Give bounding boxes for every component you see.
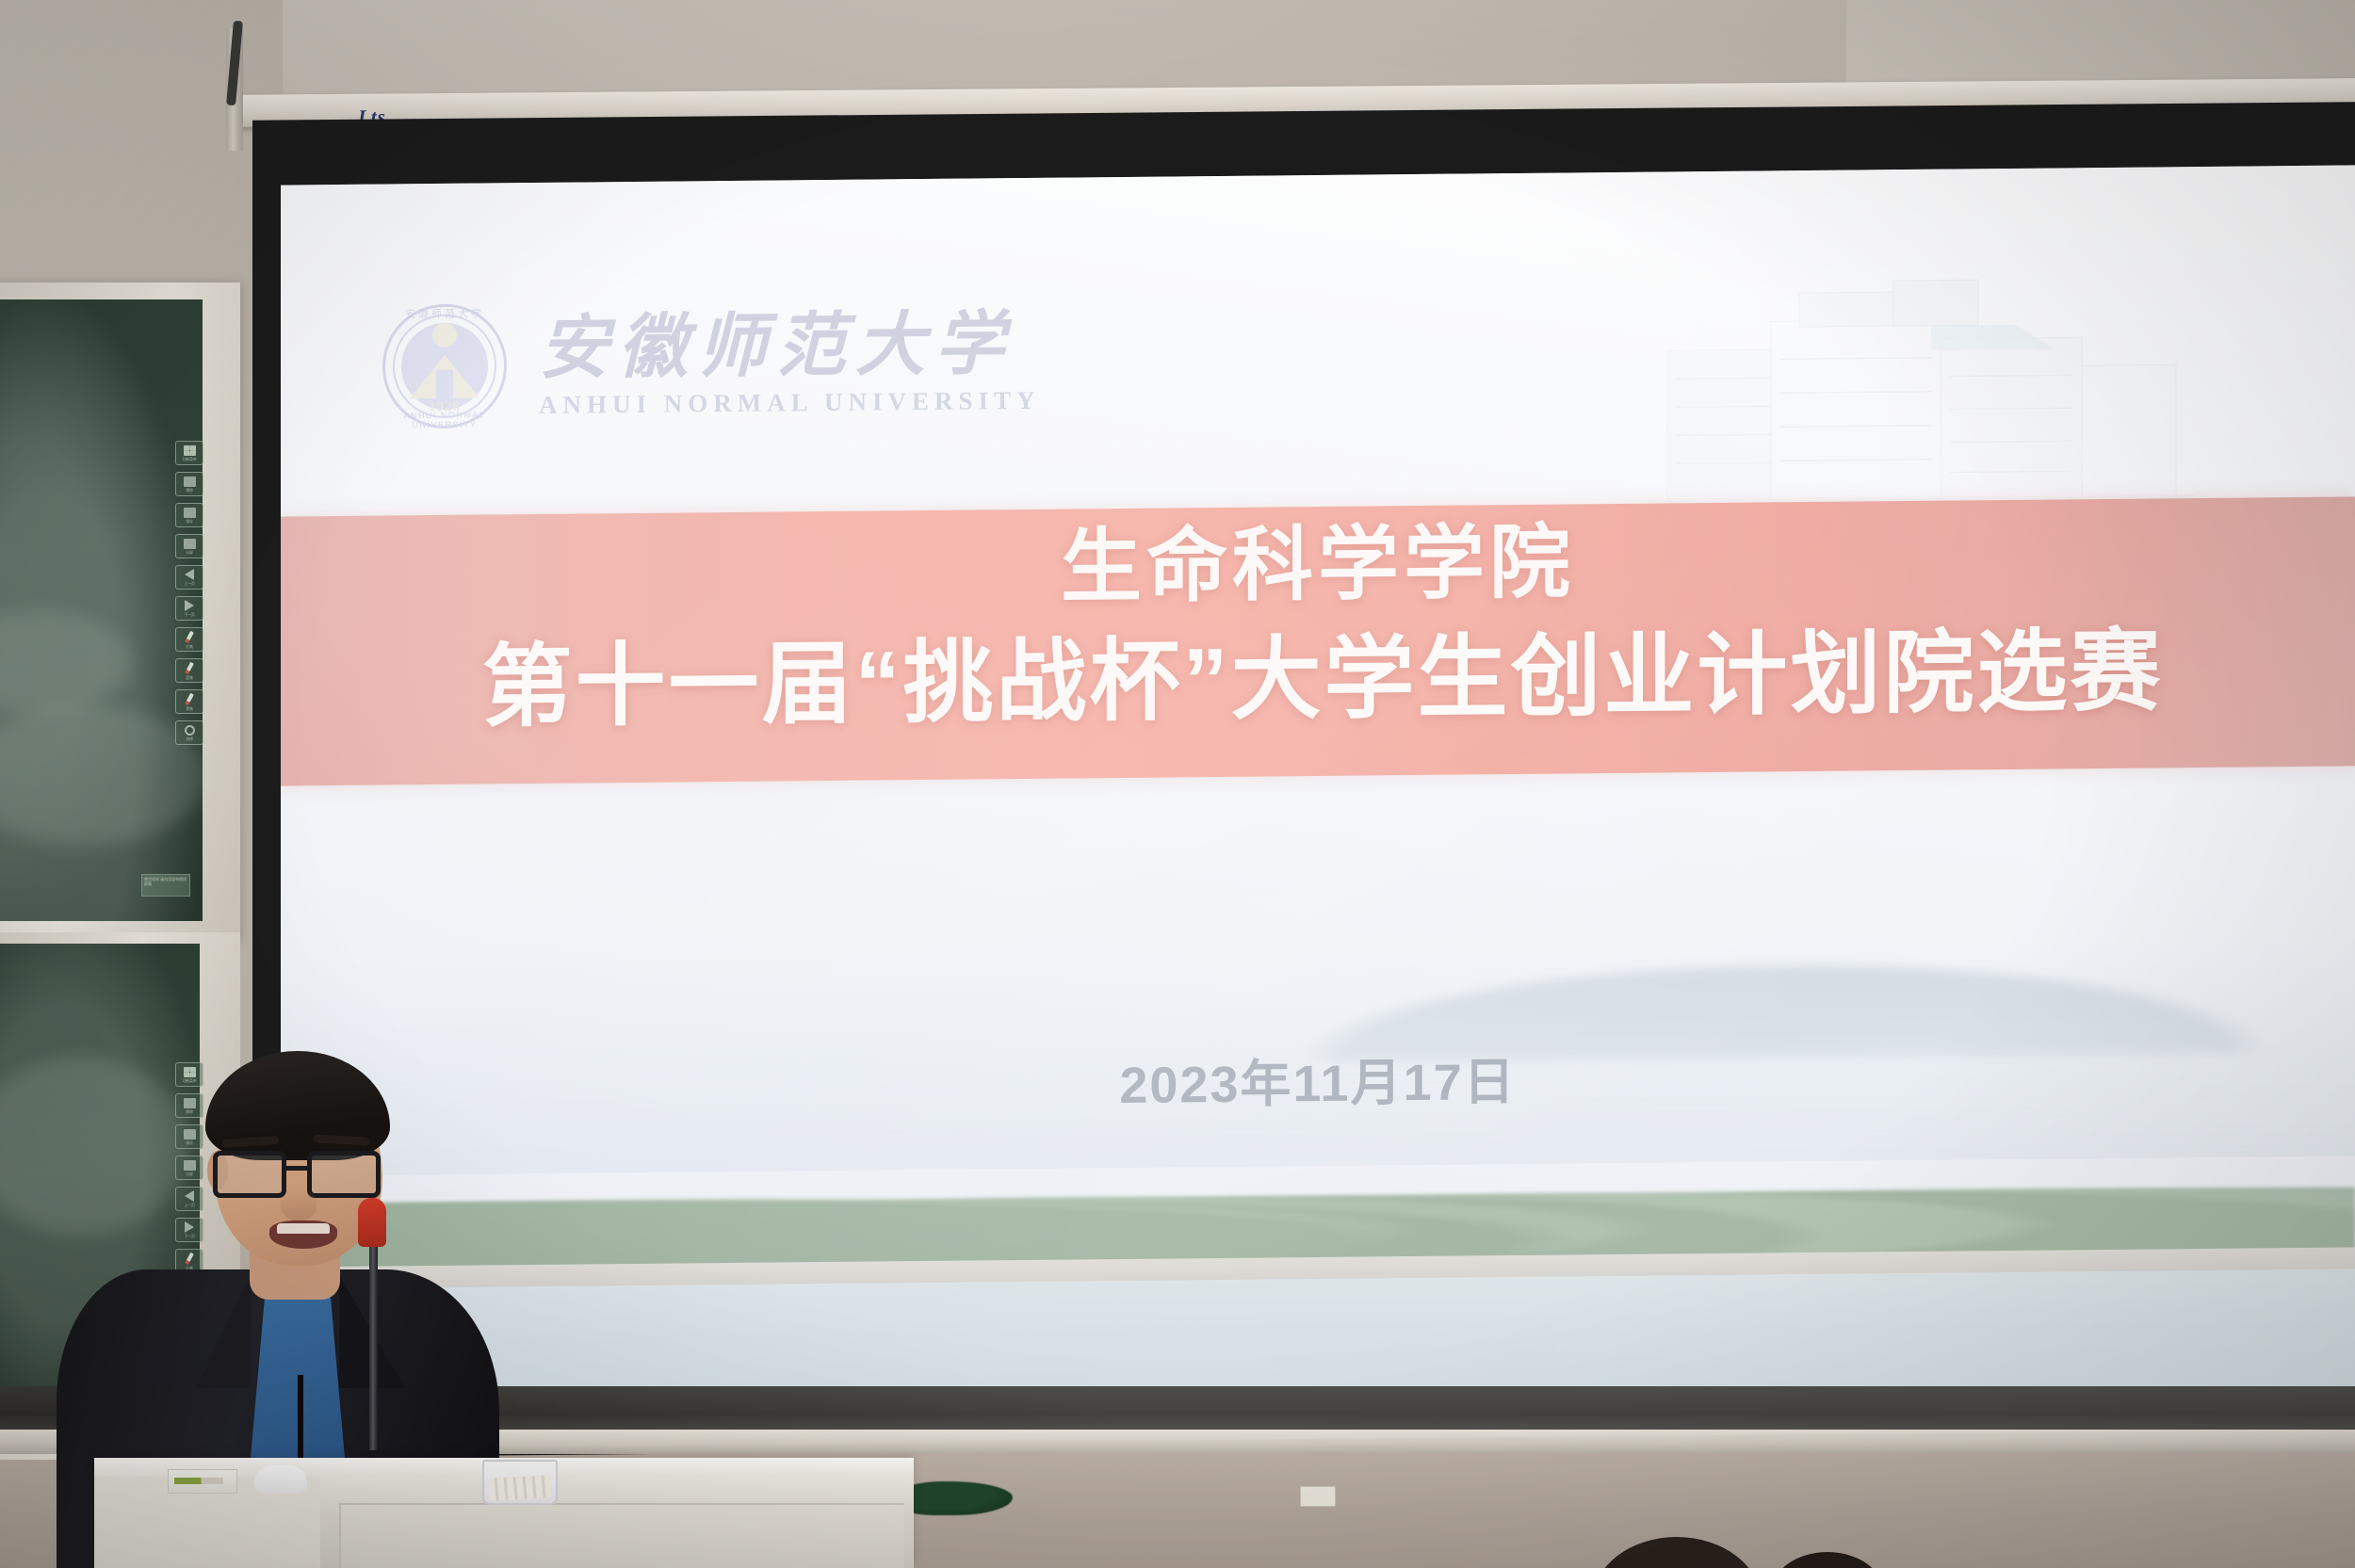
slide-title-line-2: 第十一届“挑战杯”大学生创业计划院选赛 — [281, 611, 2355, 748]
microphone-icon — [358, 1198, 386, 1247]
mouth — [269, 1220, 337, 1249]
chalk-cup[interactable] — [482, 1460, 558, 1505]
chalkboard-notice-label: 使用须知 请勿用湿布擦拭屏幕 — [141, 874, 190, 897]
lectern-panel — [339, 1503, 904, 1568]
triangle-right-icon — [185, 600, 194, 611]
university-logo-group: 1928 安徽师范大学 ANHUI NORMAL UNIVERSITY 安徽师范… — [382, 299, 1041, 429]
pen-icon — [185, 692, 194, 704]
black-pen-button[interactable]: 黑笔 — [175, 689, 203, 714]
slide-title-line-1: 生命科学学院 — [281, 508, 2355, 622]
university-name-cn: 安徽师范大学 — [539, 306, 1041, 386]
grid-button[interactable]: 功能菜单 — [175, 441, 203, 465]
blue-pen-button[interactable]: 蓝笔 — [175, 658, 203, 683]
microphone-stand — [369, 1224, 378, 1450]
floppy-icon — [184, 508, 196, 518]
title-banner: 生命科学学院 第十一届“挑战杯”大学生创业计划院选赛 — [281, 496, 2355, 785]
select-button[interactable]: 选择 — [175, 720, 203, 745]
target-icon — [185, 725, 195, 736]
seal-ring-bottom-text: ANHUI NORMAL UNIVERSITY — [382, 410, 507, 429]
eraser-button[interactable]: 擦除 — [175, 472, 203, 496]
grid-icon — [184, 445, 196, 456]
red-pen-button[interactable]: 红笔 — [175, 627, 203, 652]
nose — [281, 1188, 317, 1220]
next-button[interactable]: 下一页 — [175, 596, 203, 621]
campus-panorama-watermark — [281, 939, 2355, 1448]
window-button[interactable]: 分屏 — [175, 534, 203, 558]
pen-icon — [185, 630, 194, 642]
save-button[interactable]: 保存 — [175, 503, 203, 527]
lecture-hall-scene: Lts 功能菜单 擦除 保存 分屏 上一页 下一页 — [0, 0, 2355, 1568]
window-icon — [184, 539, 196, 549]
clicker-box[interactable] — [168, 1469, 237, 1494]
projector-screen: 1928 安徽师范大学 ANHUI NORMAL UNIVERSITY 安徽师范… — [281, 165, 2355, 1448]
wall-socket — [1300, 1486, 1336, 1507]
seal-ring-top-text: 安徽师范大学 — [382, 305, 507, 321]
triangle-left-icon — [185, 569, 194, 580]
presentation-remote[interactable] — [254, 1465, 307, 1494]
pen-icon — [185, 661, 194, 673]
prev-button[interactable]: 上一页 — [175, 565, 203, 590]
chalkboard-surface-upper — [0, 299, 203, 921]
eraser-icon — [184, 477, 196, 487]
presenter-figure — [57, 1045, 499, 1497]
university-name-en: ANHUI NORMAL UNIVERSITY — [539, 385, 1041, 419]
lapel-left — [196, 1275, 251, 1388]
chalkboard-control-strip-upper[interactable]: 功能菜单 擦除 保存 分屏 上一页 下一页 红笔 蓝笔 — [175, 441, 203, 745]
university-seal-icon: 1928 安徽师范大学 ANHUI NORMAL UNIVERSITY — [382, 303, 507, 428]
